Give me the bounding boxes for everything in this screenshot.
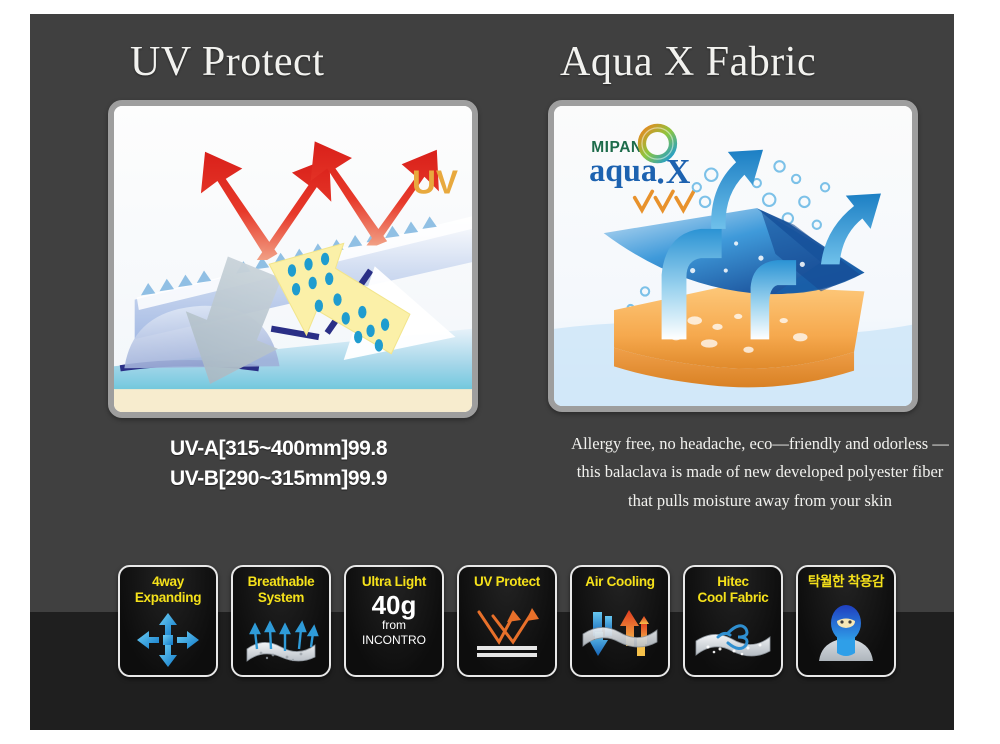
uv-spec-caption: UV-A[315~400mm]99.8 UV-B[290~315mm]99.9 — [170, 434, 387, 494]
badge-excellent-fit[interactable]: 탁월한 착용감 — [796, 565, 896, 677]
badge-4way-expanding[interactable]: 4way Expanding — [118, 565, 218, 677]
badge-title: UV Protect — [474, 574, 540, 590]
uv-spec-line-b: UV-B[290~315mm]99.9 — [170, 464, 387, 494]
uv-spec-line-a: UV-A[315~400mm]99.8 — [170, 434, 387, 464]
aqua-description-line-2: this balaclava is made of new developed … — [550, 458, 954, 486]
uv-protect-illustration: UV — [108, 100, 478, 418]
four-way-arrows-icon — [120, 605, 216, 675]
badge-title: Breathable System — [248, 574, 315, 605]
uv-reflect-arrows-icon — [459, 590, 555, 675]
person-wearing-balaclava-icon — [798, 590, 894, 675]
badge-title: 4way Expanding — [135, 574, 201, 605]
fabric-airflow-arrows-icon — [572, 590, 668, 675]
badge-hitec-cool-fabric[interactable]: Hitec Cool Fabric — [683, 565, 783, 677]
infographic-canvas: UV Protect Aqua X Fabric — [0, 0, 1000, 744]
badge-title: 탁월한 착용감 — [808, 574, 884, 590]
badge-title: Air Cooling — [585, 574, 654, 590]
feature-badge-row: 4way Expanding — [118, 565, 896, 677]
aqua-section-heading: Aqua X Fabric — [560, 38, 816, 86]
uv-figure-label: UV — [412, 164, 458, 201]
aqua-description: Allergy free, no headache, eco—friendly … — [550, 430, 954, 515]
aqua-description-line-3: that pulls moisture away from your skin — [550, 487, 954, 515]
uv-section-heading: UV Protect — [130, 38, 324, 86]
badge-brand-label: INCONTRO — [362, 633, 426, 648]
fabric-with-upward-arrows-icon — [233, 605, 329, 675]
badge-air-cooling[interactable]: Air Cooling — [570, 565, 670, 677]
badge-title: Hitec Cool Fabric — [698, 574, 769, 605]
main-panel: UV Protect Aqua X Fabric — [30, 14, 954, 730]
badge-title: Ultra Light — [362, 574, 426, 590]
fabric-wind-swirl-icon — [685, 605, 781, 675]
uv-diagram-svg: UV — [114, 106, 472, 412]
badge-weight-value: 40g — [372, 592, 417, 618]
badge-uv-protect[interactable]: UV Protect — [457, 565, 557, 677]
aqua-description-line-1: Allergy free, no headache, eco—friendly … — [550, 430, 954, 458]
aqua-diagram-svg: MIPAN aqua X — [554, 106, 912, 406]
badge-ultra-light[interactable]: Ultra Light 40g from INCONTRO — [344, 565, 444, 677]
badge-breathable-system[interactable]: Breathable System — [231, 565, 331, 677]
aqua-fabric-illustration: MIPAN aqua X — [548, 100, 918, 412]
badge-from-label: from — [382, 618, 406, 633]
